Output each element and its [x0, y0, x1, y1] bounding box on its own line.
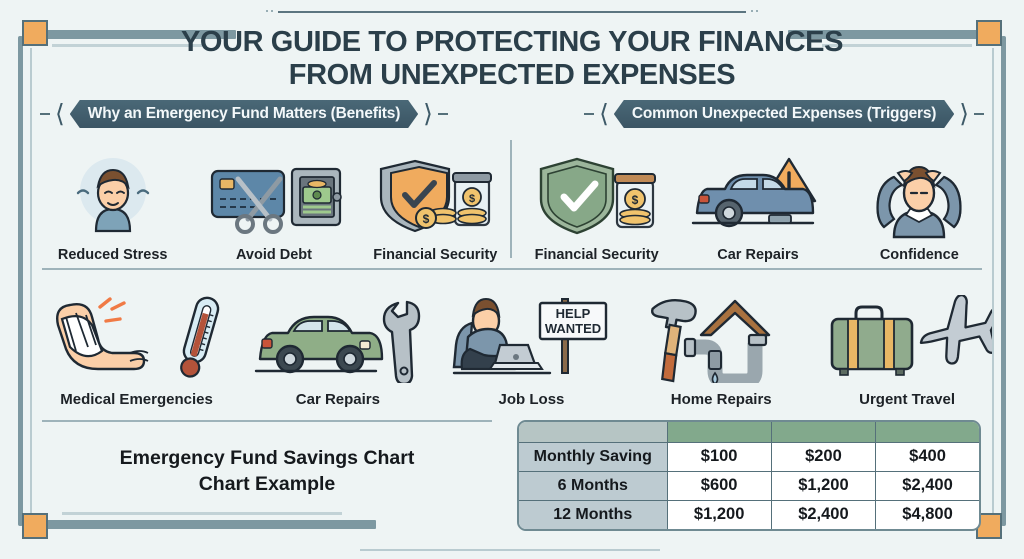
bottom-rule — [360, 549, 660, 551]
section-banner-triggers: Common Unexpected Expenses (Triggers) — [614, 100, 954, 128]
table-row: 6 Months $600 $1,200 $2,400 — [519, 471, 979, 500]
credit-card-scissors-safe-icon — [204, 151, 344, 239]
row-divider-upper — [42, 268, 982, 270]
laptop-person-help-wanted-icon: HELP WANTED — [444, 295, 619, 383]
top-rule — [278, 11, 746, 13]
item-label: Reduced Stress — [58, 247, 168, 263]
triggers-icon-row: Medical Emergencies — [32, 278, 1000, 408]
svg-text:WANTED: WANTED — [545, 321, 601, 336]
table-row: 12 Months $1,200 $2,400 $4,800 — [519, 500, 979, 529]
svg-text:$: $ — [631, 193, 638, 207]
table-row: Monthly Saving $100 $200 $400 — [519, 442, 979, 471]
item-reduced-stress: Reduced Stress — [32, 138, 193, 263]
svg-text:$: $ — [423, 212, 430, 226]
item-label: Home Repairs — [671, 391, 772, 408]
section-banner-benefits-wrap: ⟨ Why an Emergency Fund Matters (Benefit… — [40, 100, 448, 128]
row-label: 12 Months — [519, 500, 667, 529]
table-header-col1 — [667, 422, 771, 442]
chevron-left-icon: ⟨ — [55, 102, 65, 127]
chevron-right-icon: ⟩ — [959, 102, 969, 127]
cell: $400 — [876, 442, 979, 471]
item-car-repairs-bottom: Car Repairs — [241, 278, 435, 408]
cell: $1,200 — [771, 471, 875, 500]
benefits-icon-row: Reduced Stress — [32, 138, 1000, 263]
orange-shield-check-coins-jar-icon: $ $ — [371, 151, 499, 239]
row-divider-lower — [42, 420, 492, 422]
banner-tick-icon — [40, 113, 50, 115]
suitcase-airplane-icon — [822, 295, 992, 383]
item-job-loss: HELP WANTED Job Loss — [435, 278, 629, 408]
item-label: Avoid Debt — [236, 247, 312, 263]
row-label: 6 Months — [519, 471, 667, 500]
green-shield-check-coins-jar-icon: $ — [533, 151, 661, 239]
cell: $100 — [667, 442, 771, 471]
cell: $200 — [771, 442, 875, 471]
stressed-person-icon — [864, 151, 974, 239]
top-dots-right — [751, 10, 758, 12]
savings-table: Monthly Saving $100 $200 $400 6 Months $… — [517, 420, 981, 531]
item-medical-emergencies: Medical Emergencies — [32, 278, 241, 408]
item-label: Car Repairs — [717, 247, 798, 263]
table-header-row — [519, 422, 979, 442]
corner-square-icon — [22, 513, 48, 539]
page-title-line2: FROM UNEXPECTED EXPENSES — [0, 59, 1024, 92]
cell: $4,800 — [876, 500, 979, 529]
item-financial-security-trigger: $ Financial Security — [516, 138, 677, 263]
cell: $2,400 — [771, 500, 875, 529]
item-label: Confidence — [880, 247, 959, 263]
cell: $1,200 — [667, 500, 771, 529]
blue-car-warning-icon — [683, 151, 833, 239]
chevron-right-icon: ⟩ — [423, 102, 433, 127]
item-label: Financial Security — [373, 247, 497, 263]
cell: $600 — [667, 471, 771, 500]
item-label: Financial Security — [535, 247, 659, 263]
table-header-col3 — [876, 422, 979, 442]
item-urgent-travel: Urgent Travel — [814, 278, 1000, 408]
svg-text:$: $ — [469, 193, 475, 205]
item-home-repairs: Home Repairs — [628, 278, 814, 408]
table-header-blank — [519, 422, 667, 442]
page-title-line1: YOUR GUIDE TO PROTECTING YOUR FINANCES — [181, 26, 843, 58]
banner-tick-icon — [584, 113, 594, 115]
table-header-col2 — [771, 422, 875, 442]
item-avoid-debt: Avoid Debt — [193, 138, 354, 263]
item-car-repairs-top: Car Repairs — [677, 138, 838, 263]
section-banner-row: ⟨ Why an Emergency Fund Matters (Benefit… — [40, 100, 984, 128]
section-banner-benefits: Why an Emergency Fund Matters (Benefits) — [70, 100, 418, 128]
infographic-page: YOUR GUIDE TO PROTECTING YOUR FINANCES F… — [0, 0, 1024, 559]
item-confidence: Confidence — [839, 138, 1000, 263]
section-banner-triggers-wrap: ⟨ Common Unexpected Expenses (Triggers) … — [584, 100, 984, 128]
chart-caption-line2: Chart Example — [42, 471, 492, 497]
cell: $2,400 — [876, 471, 979, 500]
chart-caption-line1: Emergency Fund Savings Chart — [42, 445, 492, 471]
top-dots-left — [266, 10, 273, 12]
chevron-left-icon: ⟨ — [599, 102, 609, 127]
item-label: Urgent Travel — [859, 391, 955, 408]
hammer-roof-leaking-pipe-icon — [639, 295, 804, 383]
green-car-wrench-icon — [250, 295, 425, 383]
banner-tick-icon — [974, 113, 984, 115]
item-financial-security-benefit: $ $ Financial Security — [355, 138, 516, 263]
svg-text:HELP: HELP — [556, 306, 591, 321]
chart-caption: Emergency Fund Savings Chart Chart Examp… — [42, 445, 492, 498]
bandaged-arm-thermometer-icon — [44, 295, 229, 383]
calm-person-icon — [58, 151, 168, 239]
item-label: Job Loss — [499, 391, 565, 408]
row-label: Monthly Saving — [519, 442, 667, 471]
item-label: Car Repairs — [296, 391, 380, 408]
page-title: YOUR GUIDE TO PROTECTING YOUR FINANCES F… — [0, 26, 1024, 92]
item-label: Medical Emergencies — [60, 391, 213, 408]
banner-tick-icon — [438, 113, 448, 115]
